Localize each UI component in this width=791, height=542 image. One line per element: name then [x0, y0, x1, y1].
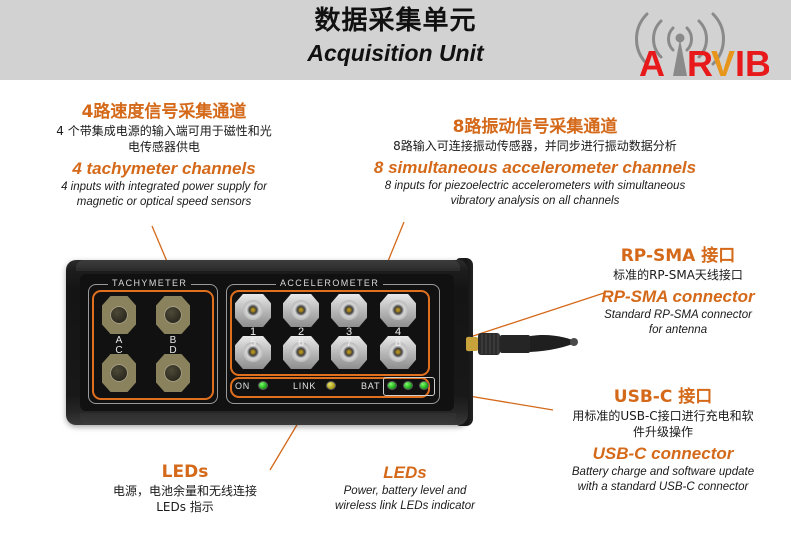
callout-leds-cn-head: LEDs	[60, 462, 310, 483]
led-link-indicator	[326, 381, 336, 390]
tachymeter-port-a[interactable]	[102, 296, 136, 334]
tachymeter-port-b-pins	[164, 306, 182, 324]
tachymeter-port-c-pins	[110, 364, 128, 382]
callout-leds-cn: LEDs 电源，电池余量和无线连接 LEDs 指示	[60, 462, 310, 515]
callout-rpsma-head-cn: RP-SMA 接口	[565, 246, 791, 267]
acquisition-unit-device: TACHYMETER A	[60, 252, 480, 434]
callout-leds-cn-sub-1: 电源，电池余量和无线连接	[60, 483, 310, 499]
led-on-indicator	[258, 381, 268, 390]
led-label-on: ON	[235, 381, 250, 391]
callout-tachymeter-sub-en-1: 4 inputs with integrated power supply fo…	[14, 180, 314, 195]
antenna-barrel-icon	[500, 335, 530, 353]
led-label-bat: BAT	[361, 381, 380, 391]
callout-rpsma-sub-en-2: for antenna	[565, 323, 791, 338]
tachymeter-label-d: D	[156, 345, 190, 356]
callout-tachymeter: 4路速度信号采集通道 4 个带集成电源的输入端可用于磁性和光 电传感器供电 4 …	[14, 102, 314, 210]
callout-rpsma: RP-SMA 接口 标准的RP-SMA天线接口 RP-SMA connector…	[565, 246, 791, 338]
callout-tachymeter-head-cn: 4路速度信号采集通道	[14, 102, 314, 123]
callout-tachymeter-sub-cn-2: 电传感器供电	[14, 139, 314, 155]
accelerometer-label-6: 6	[283, 337, 319, 349]
battery-led-2	[403, 381, 413, 390]
callout-usbc: USB-C 接口 用标准的USB-C接口进行充电和软 件升级操作 USB-C c…	[535, 387, 791, 495]
accelerometer-label-5: 5	[235, 337, 271, 349]
tachymeter-port-c[interactable]	[102, 354, 136, 392]
antenna-svg	[466, 328, 590, 360]
callout-rpsma-sub-cn-1: 标准的RP-SMA天线接口	[565, 267, 791, 283]
accelerometer-label-8: 8	[380, 337, 416, 349]
logo-letter-v: V	[711, 43, 735, 78]
tachymeter-label-c: C	[102, 345, 136, 356]
rpsma-antenna-connector	[466, 328, 590, 360]
tachymeter-port-d-pins	[164, 364, 182, 382]
device-bottom-band	[80, 413, 456, 425]
callout-usbc-sub-cn-2: 件升级操作	[535, 424, 791, 440]
callout-leds-en-head: LEDs	[290, 462, 520, 484]
callout-usbc-sub-cn-1: 用标准的USB-C接口进行充电和软	[535, 408, 791, 424]
callout-accelerometer-sub-en-2: vibratory analysis on all channels	[350, 194, 720, 209]
callout-leds-en-sub-1: Power, battery level and	[290, 484, 520, 499]
callout-rpsma-head-en: RP-SMA connector	[565, 286, 791, 308]
callout-usbc-head-en: USB-C connector	[535, 443, 791, 465]
accelerometer-port-2[interactable]	[283, 294, 319, 327]
battery-led-3	[419, 381, 429, 390]
device-body: TACHYMETER A	[66, 260, 468, 425]
callout-usbc-sub-en-1: Battery charge and software update	[535, 465, 791, 480]
callout-rpsma-sub-en-1: Standard RP-SMA connector	[565, 308, 791, 323]
battery-led-1	[387, 381, 397, 390]
accelerometer-group-label: ACCELEROMETER	[276, 278, 383, 288]
accelerometer-label-7: 7	[331, 337, 367, 349]
callout-tachymeter-head-en: 4 tachymeter channels	[14, 158, 314, 180]
callout-tachymeter-sub-cn-1: 4 个带集成电源的输入端可用于磁性和光	[14, 123, 314, 139]
tachymeter-port-a-pins	[110, 306, 128, 324]
callout-accelerometer: 8路振动信号采集通道 8路输入可连接振动传感器，并同步进行振动数据分析 8 si…	[350, 117, 720, 209]
tachymeter-port-b[interactable]	[156, 296, 190, 334]
callout-accelerometer-head-cn: 8路振动信号采集通道	[350, 117, 720, 138]
tachymeter-port-d[interactable]	[156, 354, 190, 392]
callout-leds-en-sub-2: wireless link LEDs indicator	[290, 499, 520, 514]
antenna-tower-icon	[673, 39, 687, 76]
antenna-tip-hole-icon	[570, 338, 578, 346]
callout-usbc-sub-en-2: with a standard USB-C connector	[535, 480, 791, 495]
sma-knurled-nut-icon	[478, 333, 500, 355]
logo-svg: A R V IB	[617, 6, 769, 78]
sma-gold-thread-icon	[466, 337, 478, 351]
callout-leds-en: LEDs Power, battery level and wireless l…	[290, 462, 520, 514]
accelerometer-port-4[interactable]	[380, 294, 416, 327]
callout-tachymeter-sub-en-2: magnetic or optical speed sensors	[14, 195, 314, 210]
device-front-face: TACHYMETER A	[80, 274, 454, 411]
tachymeter-group-label: TACHYMETER	[108, 278, 191, 288]
callout-leds-cn-sub-2: LEDs 指示	[60, 499, 310, 515]
callout-accelerometer-sub-cn-1: 8路输入可连接振动传感器，并同步进行振动数据分析	[350, 138, 720, 154]
logo-letter-a: A	[639, 43, 665, 78]
callout-accelerometer-sub-en-1: 8 inputs for piezoelectric accelerometer…	[350, 179, 720, 194]
airvib-logo: A R V IB	[617, 6, 769, 78]
logo-letter-r: R	[687, 43, 713, 78]
callout-accelerometer-head-en: 8 simultaneous accelerometer channels	[350, 157, 720, 179]
led-label-link: LINK	[293, 381, 316, 391]
logo-letters-ib: IB	[735, 43, 769, 78]
accelerometer-port-1[interactable]	[235, 294, 271, 327]
accelerometer-port-3[interactable]	[331, 294, 367, 327]
device-top-band	[76, 260, 460, 271]
callout-usbc-head-cn: USB-C 接口	[535, 387, 791, 408]
